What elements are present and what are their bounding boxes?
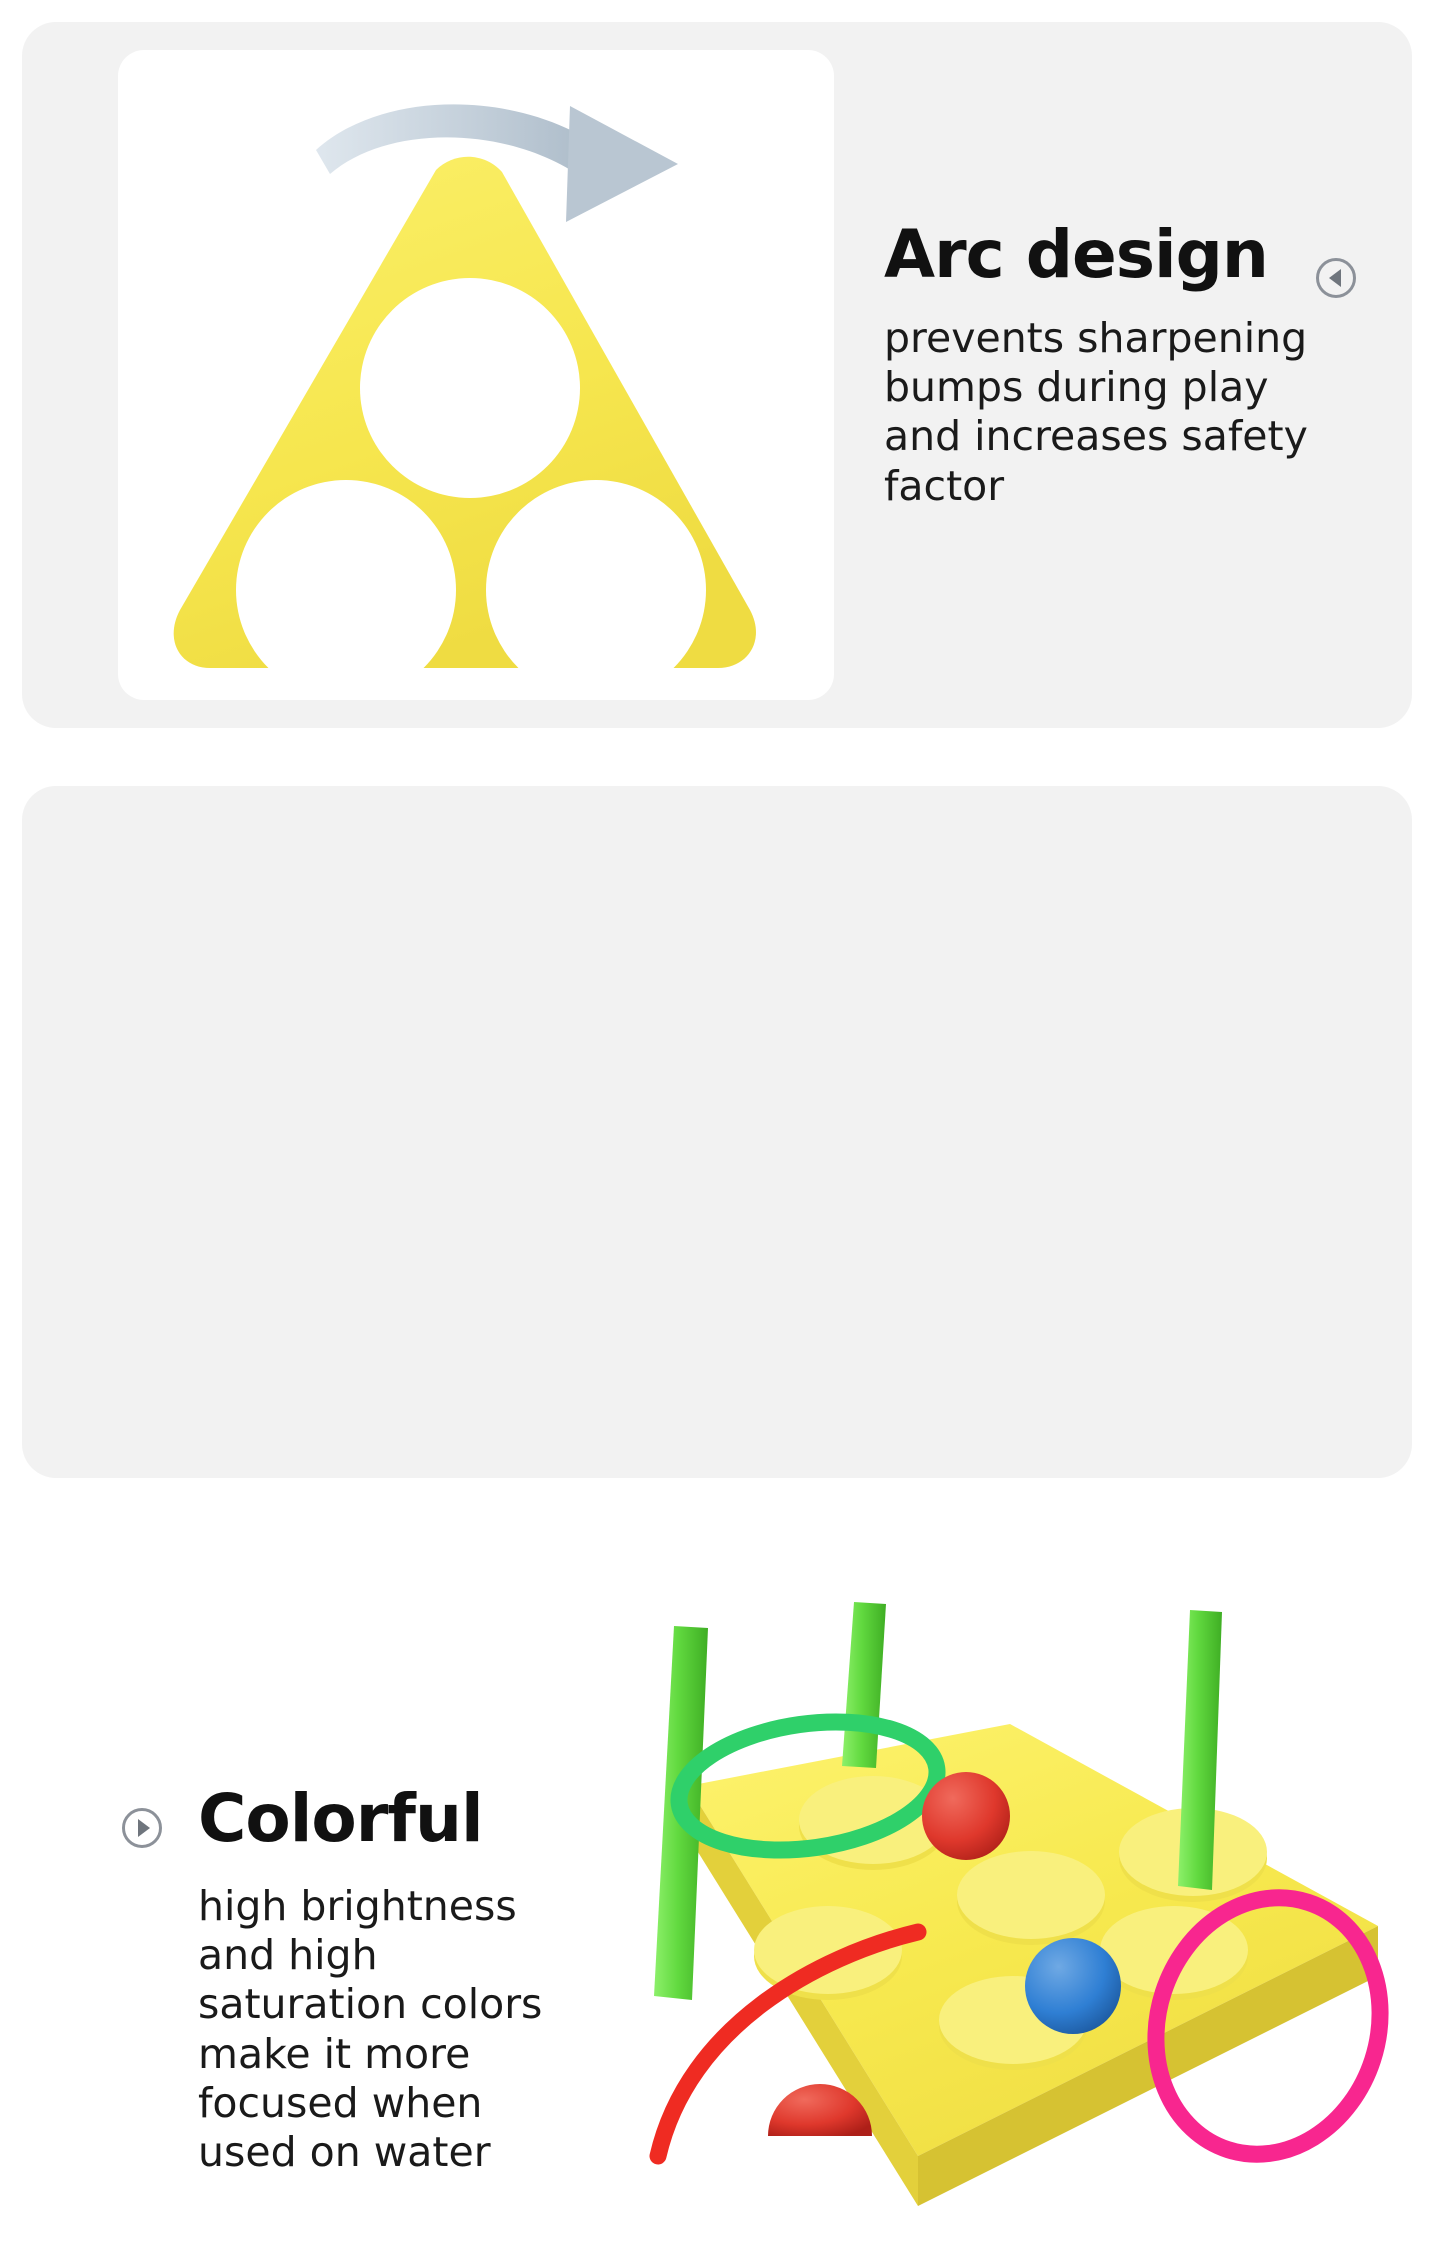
triangular-ring-base — [174, 157, 756, 700]
colorful-title: Colorful — [198, 1786, 598, 1852]
arc-design-illustration — [118, 50, 834, 700]
feature-panel-colorful: Colorful high brightness and high satura… — [22, 786, 1412, 1478]
triangle-left-icon — [1316, 258, 1356, 298]
product-feature-page: Arc design prevents sharpening bumps dur… — [0, 0, 1434, 1500]
arc-design-body: prevents sharpening bumps during play an… — [884, 314, 1344, 511]
blue-ball — [1025, 1938, 1121, 2034]
colorful-text-block: Colorful high brightness and high satura… — [198, 1786, 598, 2177]
feature-panel-arc-design: Arc design prevents sharpening bumps dur… — [22, 22, 1412, 728]
colorful-product-image — [618, 1596, 1428, 2256]
arc-design-text-block: Arc design prevents sharpening bumps dur… — [884, 222, 1354, 511]
triangle-right-icon — [122, 1808, 162, 1848]
triangle-left-glyph — [1329, 269, 1341, 287]
red-ball-top — [922, 1772, 1010, 1860]
arc-design-title: Arc design — [884, 222, 1268, 288]
colorful-illustration — [618, 1596, 1428, 2256]
colorful-body: high brightness and high saturation colo… — [198, 1882, 578, 2177]
arc-design-product-image — [118, 50, 834, 700]
triangle-right-glyph — [138, 1819, 150, 1837]
